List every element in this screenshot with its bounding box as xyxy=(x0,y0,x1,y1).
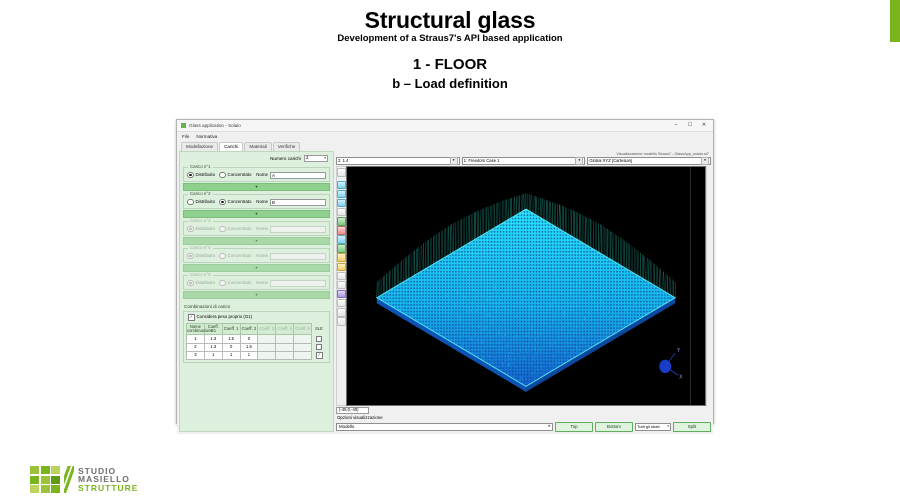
load-case-2-concentrato-radio[interactable]: Concentrato xyxy=(219,199,251,206)
node-tool-icon[interactable] xyxy=(337,217,346,226)
radio-icon xyxy=(219,253,226,260)
menu-item-file[interactable]: File xyxy=(182,134,189,139)
minimize-button[interactable]: – xyxy=(669,120,683,131)
chevron-down-icon: ▾ xyxy=(575,157,583,165)
tab-verifiche[interactable]: Verifiche xyxy=(273,142,301,151)
viewport-scrollbar[interactable] xyxy=(706,166,711,406)
combinations-table: Nome combinazione Coeff. G1 Coeff. 1 Coe… xyxy=(186,323,327,360)
layer-select-value: Tutti gli strati xyxy=(637,425,660,429)
cell-coeff-2[interactable]: 0 xyxy=(240,335,258,343)
load-case-2-concentrato-label: Concentrato xyxy=(228,200,252,205)
checkbox-icon xyxy=(316,336,323,343)
app-icon xyxy=(181,123,186,128)
load-case-1-distribuito-label: Distribuito xyxy=(196,173,216,178)
bottom-button[interactable]: Bottom xyxy=(595,422,633,432)
right-accent-bar xyxy=(890,0,900,502)
radio-icon xyxy=(219,280,226,287)
tab-modellazione[interactable]: Modellazione xyxy=(181,142,218,151)
checkbox-icon: ✓ xyxy=(316,352,323,359)
cell-coeff-5 xyxy=(294,351,312,359)
top-button[interactable]: Top xyxy=(555,422,593,432)
options-label: Opzioni visualizzazione xyxy=(337,416,711,421)
layer-select[interactable]: Tutti gli strati ▾ xyxy=(635,423,671,431)
menu-bar: File Normativa xyxy=(177,132,713,141)
viewport-divider xyxy=(690,167,691,405)
load-case-5-concentrato-label: Concentrato xyxy=(228,281,252,286)
studio-logo: STUDIO MASIELLO STRUTTURE xyxy=(30,466,138,493)
attributes-tool-icon[interactable] xyxy=(337,272,346,281)
load-case-4-distribuito-label: Distribuito xyxy=(196,254,216,259)
axes-tool-icon[interactable] xyxy=(337,308,346,317)
coordinate-system-select[interactable]: Global XYZ [Cartesian] ▾ xyxy=(587,157,711,165)
tab-carichi[interactable]: Carichi xyxy=(219,142,243,151)
cell-coeff-4 xyxy=(276,335,294,343)
window-titlebar[interactable]: Glass application - Solaio – ☐ ✕ xyxy=(177,120,713,132)
section-title: 1 - FLOOR xyxy=(0,56,900,73)
model-canvas[interactable]: Y X xyxy=(346,166,706,406)
load-case-2-distribuito-radio[interactable]: Distribuito xyxy=(187,199,215,206)
coordinate-system-select-value: Global XYZ [Cartesian] xyxy=(589,159,632,164)
cell-name[interactable]: 2 xyxy=(187,343,205,351)
load-case-5-distribuito-label: Distribuito xyxy=(196,281,216,286)
work-area: Numero carichi 2 ▾ Carico n°1 Distribuit… xyxy=(177,151,713,434)
viewport-panel: Visualizzazione modello Straus7 - GlassA… xyxy=(336,151,711,432)
viewport-bottom-bar: Modello ▾ Top Bottom Tutti gli strati ▾ … xyxy=(336,422,711,432)
cell-coeff-2[interactable]: 1 xyxy=(240,351,258,359)
plate-tool-icon[interactable] xyxy=(337,235,346,244)
radio-icon xyxy=(219,226,226,233)
zoom-tool-icon[interactable] xyxy=(337,181,346,190)
cell-coeff-1[interactable]: 1.5 xyxy=(222,335,240,343)
logo-line-3: STRUTTURE xyxy=(78,484,138,493)
load-case-5-concentrato-radio: Concentrato xyxy=(219,280,251,287)
num-loads-label: Numero carichi xyxy=(270,156,301,161)
split-button[interactable]: Split xyxy=(673,422,711,432)
point-tool-icon[interactable] xyxy=(337,226,346,235)
load-case-5-name-input xyxy=(270,280,326,287)
load-case-3: Carico n°3 Distribuito Concentrato Nome xyxy=(183,221,330,236)
load-case-2-distribuito-label: Distribuito xyxy=(196,200,216,205)
cell-coeff-4 xyxy=(276,351,294,359)
logo-grid-icon xyxy=(30,466,60,493)
load-case-4-distribuito-radio: Distribuito xyxy=(187,253,215,260)
viewport-toolbar xyxy=(336,166,346,406)
slide-header: Structural glass Development of a Straus… xyxy=(0,8,900,92)
cell-coeff-3 xyxy=(258,351,276,359)
display-options-select[interactable]: Modello ▾ xyxy=(336,423,553,431)
table-row: 3 1 1 1 ✓ xyxy=(187,351,327,359)
load-case-4: Carico n°4 Distribuito Concentrato Nome xyxy=(183,248,330,263)
radio-icon xyxy=(187,199,194,206)
radio-icon xyxy=(219,199,226,206)
tab-materiali[interactable]: Materiali xyxy=(244,142,271,151)
maximize-button[interactable]: ☐ xyxy=(683,120,697,131)
table-row: 2 1.3 0 1.5 xyxy=(187,343,327,351)
grid-tool-icon[interactable] xyxy=(337,281,346,290)
load-case-5-distribuito-radio: Distribuito xyxy=(187,280,215,287)
num-loads-row: Numero carichi 2 ▾ xyxy=(183,154,330,164)
load-case-4-concentrato-label: Concentrato xyxy=(228,254,252,259)
cell-coeff-g1[interactable]: 1.3 xyxy=(204,335,222,343)
table-row: 1 1.3 1.5 0 xyxy=(187,335,327,343)
cell-coeff-2[interactable]: 1.5 xyxy=(240,343,258,351)
self-weight-label: Considera peso proprio (G1) xyxy=(197,315,253,320)
viewport-row: Y X xyxy=(336,166,711,406)
load-case-2-name-input[interactable] xyxy=(270,199,326,206)
checkbox-icon xyxy=(316,344,323,351)
chevron-down-icon: ▾ xyxy=(548,425,550,429)
rotate-tool-icon[interactable] xyxy=(337,199,346,208)
loads-panel: Numero carichi 2 ▾ Carico n°1 Distribuit… xyxy=(179,151,334,432)
load-case-3-distribuito-radio: Distribuito xyxy=(187,226,215,233)
cell-coeff-3 xyxy=(258,343,276,351)
radio-icon xyxy=(219,172,226,179)
load-case-1-legend: Carico n°1 xyxy=(188,165,213,170)
col-coeff-1: Coeff. 1 xyxy=(222,323,240,335)
window-controls: – ☐ ✕ xyxy=(669,120,711,131)
display-options-value: Modello xyxy=(339,425,354,430)
num-loads-select[interactable]: 2 ▾ xyxy=(304,155,328,162)
cell-coeff-5 xyxy=(294,335,312,343)
col-coeff-3: Coeff. 3 xyxy=(258,323,276,335)
load-case-3-name-input xyxy=(270,226,326,233)
combinations-box: ✓ Considera peso proprio (G1) Nome combi… xyxy=(183,311,330,363)
load-case-3-expander: ▼ xyxy=(183,237,330,245)
load-case-1-name-input[interactable] xyxy=(270,172,326,179)
load-case-4-legend: Carico n°4 xyxy=(188,246,213,251)
load-case-1-concentrato-radio[interactable]: Concentrato xyxy=(219,172,251,179)
combinations-title: Combinazioni di carico xyxy=(184,304,330,309)
load-case-4-name-label: Nome xyxy=(256,254,268,259)
load-case-2-name-label: Nome xyxy=(256,200,268,205)
menu-item-normativa[interactable]: Normativa xyxy=(196,134,217,139)
load-tool-icon[interactable] xyxy=(337,263,346,272)
cell-coeff-5 xyxy=(294,343,312,351)
col-coeff-4: Coeff. 4 xyxy=(276,323,294,335)
cell-coeff-1[interactable]: 1 xyxy=(222,351,240,359)
application-window: Glass application - Solaio – ☐ ✕ File No… xyxy=(176,119,714,424)
close-button[interactable]: ✕ xyxy=(697,120,711,131)
load-case-4-concentrato-radio: Concentrato xyxy=(219,253,251,260)
col-name: Nome combinazione xyxy=(187,323,205,335)
load-case-1: Carico n°1 Distribuito Concentrato Nome xyxy=(183,167,330,182)
freedom-case-select-value: 1: Freedom Case 1 xyxy=(464,159,500,164)
load-case-5: Carico n°5 Distribuito Concentrato Nome xyxy=(183,275,330,290)
col-coeff-2: Coeff. 2 xyxy=(240,323,258,335)
lock-tool-icon[interactable] xyxy=(337,317,346,326)
load-case-2-expander[interactable]: ▼ xyxy=(183,210,330,218)
load-case-3-concentrato-radio: Concentrato xyxy=(219,226,251,233)
cell-coeff-4 xyxy=(276,343,294,351)
cell-name[interactable]: 3 xyxy=(187,351,205,359)
col-sle: SLE xyxy=(312,323,327,335)
pan-tool-icon[interactable] xyxy=(337,190,346,199)
load-case-5-legend: Carico n°5 xyxy=(188,273,213,278)
num-loads-value: 2 xyxy=(306,156,308,161)
chevron-down-icon: ▾ xyxy=(450,157,458,165)
load-case-5-expander: ▼ xyxy=(183,291,330,299)
radio-icon xyxy=(187,172,194,179)
table-header-row: Nome combinazione Coeff. G1 Coeff. 1 Coe… xyxy=(187,323,327,335)
entity-select[interactable]: 2: 1.4 ▾ xyxy=(336,157,460,165)
accent-block xyxy=(890,0,900,42)
load-case-3-distribuito-label: Distribuito xyxy=(196,227,216,232)
chevron-down-icon: ▾ xyxy=(701,157,709,165)
cell-coeff-g1[interactable]: 1 xyxy=(204,351,222,359)
coordinate-readout: (-45.0,-40) xyxy=(336,407,369,414)
cell-coeff-g1[interactable]: 1.3 xyxy=(204,343,222,351)
radio-icon xyxy=(187,280,194,287)
load-case-2: Carico n°2 Distribuito Concentrato Nome xyxy=(183,194,330,209)
load-case-2-legend: Carico n°2 xyxy=(188,192,213,197)
load-case-4-name-input xyxy=(270,253,326,260)
table-tool-icon[interactable] xyxy=(337,299,346,308)
cell-sle[interactable] xyxy=(312,335,327,343)
chevron-down-icon: ▾ xyxy=(667,425,669,429)
self-weight-checkbox-row[interactable]: ✓ Considera peso proprio (G1) xyxy=(188,314,327,321)
model-3d-graphic: Y X xyxy=(347,167,705,405)
load-case-5-name-label: Nome xyxy=(256,281,268,286)
load-case-3-concentrato-label: Concentrato xyxy=(228,227,252,232)
measure-tool-icon[interactable] xyxy=(337,208,346,217)
viewport-dropdown-bar: 2: 1.4 ▾ 1: Freedom Case 1 ▾ Global XYZ … xyxy=(336,157,711,165)
radio-icon xyxy=(187,253,194,260)
freedom-case-select[interactable]: 1: Freedom Case 1 ▾ xyxy=(462,157,586,165)
load-case-1-concentrato-label: Concentrato xyxy=(228,173,252,178)
restraint-tool-icon[interactable] xyxy=(337,253,346,262)
load-case-1-expander[interactable]: ▼ xyxy=(183,183,330,191)
window-title: Glass application - Solaio xyxy=(189,123,669,128)
radio-icon xyxy=(187,226,194,233)
checkbox-icon: ✓ xyxy=(188,314,195,321)
load-case-1-name-label: Nome xyxy=(256,173,268,178)
select-tool-icon[interactable] xyxy=(337,168,346,177)
beam-tool-icon[interactable] xyxy=(337,244,346,253)
load-case-1-distribuito-radio[interactable]: Distribuito xyxy=(187,172,215,179)
col-coeff-5: Coeff. 5 xyxy=(294,323,312,335)
toolbar-separator xyxy=(338,177,345,180)
logo-wordmark: STUDIO MASIELLO STRUTTURE xyxy=(78,467,138,493)
svg-text:X: X xyxy=(679,374,683,380)
cell-sle[interactable]: ✓ xyxy=(312,351,327,359)
page-title: Structural glass xyxy=(0,8,900,32)
chevron-down-icon: ▾ xyxy=(324,157,326,161)
page-subtitle: Development of a Straus7's API based app… xyxy=(0,33,900,44)
cell-coeff-3 xyxy=(258,335,276,343)
subsection-title: b – Load definition xyxy=(0,77,900,92)
load-case-3-name-label: Nome xyxy=(256,227,268,232)
logo-slash-icon xyxy=(64,466,74,493)
cell-coeff-1[interactable]: 0 xyxy=(222,343,240,351)
cell-sle[interactable] xyxy=(312,343,327,351)
tab-strip: Modellazione Carichi Materiali Verifiche xyxy=(177,141,713,151)
cell-name[interactable]: 1 xyxy=(187,335,205,343)
load-case-3-legend: Carico n°3 xyxy=(188,219,213,224)
load-case-4-expander: ▼ xyxy=(183,264,330,272)
contour-tool-icon[interactable] xyxy=(337,290,346,299)
entity-select-value: 2: 1.4 xyxy=(338,159,348,164)
